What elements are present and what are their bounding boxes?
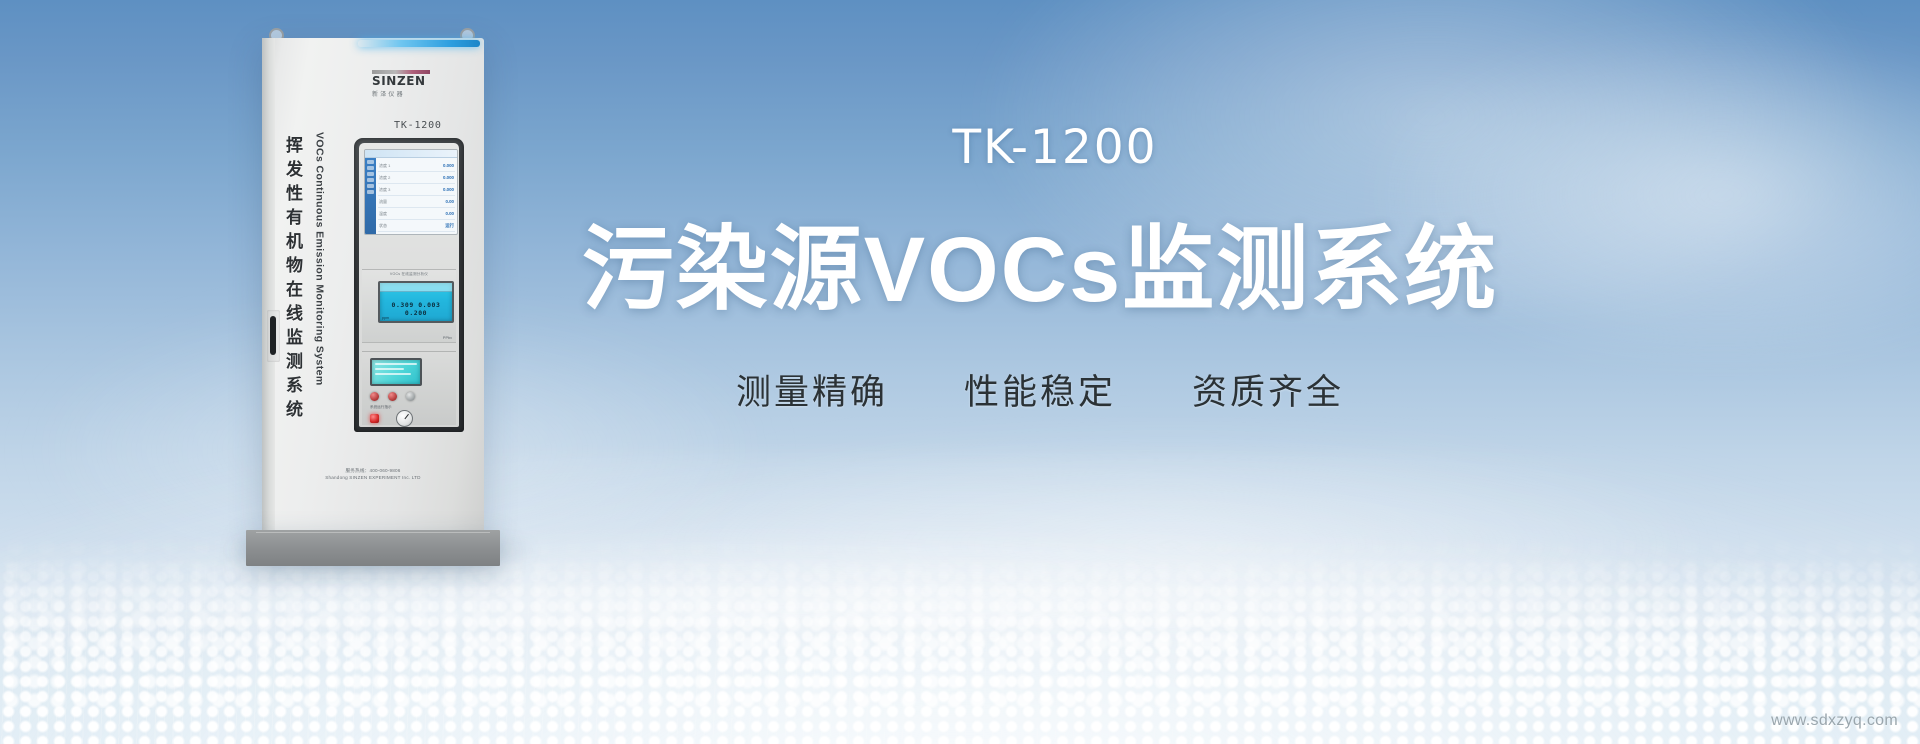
hmi-row-label: 温度 [379,211,387,217]
cabinet-left-edge [262,38,275,530]
analyzer-caption: VOCs 在线监测分析仪 [362,270,456,277]
valve-knob-icon [406,392,415,401]
hmi-row-value: 运行 [445,223,454,229]
hmi-row-value: 0.00 [445,199,454,204]
status-led-icon [370,414,379,423]
control-panel: 系统运行指示 [362,351,456,425]
hmi-row: 浓度 2 0.000 [378,172,455,184]
feature-item-accuracy: 测量精确 [736,364,888,415]
hmi-row: 温度 0.00 [378,208,455,220]
lcd-unit: ppm [382,316,389,320]
hmi-row-value: 0.000 [443,187,454,192]
control-indicator-label: 系统运行指示 [370,405,392,410]
nameplate-line-2: Shandong SINZEN EXPERIMENT Inc. LTD [262,475,484,482]
cabinet-nameplate: 服务热线：400-060-9806 Shandong SINZEN EXPERI… [262,468,484,482]
analyzer-module: VOCs 在线监测分析仪 0.309 0.003 0.200 ppm PPbv [362,269,456,343]
banner-model-label: TK-1200 [570,120,1540,175]
hmi-row-label: 流量 [379,199,387,205]
feature-item-stability: 性能稳定 [964,364,1116,415]
pressure-gauge-icon [396,410,413,427]
control-knob-group [370,392,415,401]
product-banner: SINZEN 新泽仪器 TK-1200 挥发性有机物在线监测系统 VOCs Co… [0,0,1920,744]
cabinet-plinth [246,530,500,566]
cabinet-vertical-cn-title: 挥发性有机物在线监测系统 [284,136,301,424]
hmi-row-label: 浓度 3 [379,187,390,193]
pump-knob-icon [388,392,397,401]
instrument-window: 浓度 1 0.000 浓度 2 0.000 浓度 3 0.000 流量 [354,138,464,432]
hmi-titlebar [365,150,457,158]
banner-feature-list: 测量精确 性能稳定 资质齐全 [540,364,1540,415]
hmi-row-label: 浓度 2 [379,175,390,181]
hmi-row: 流量 0.00 [378,196,455,208]
door-handle-icon [267,310,280,362]
feature-item-credentials: 资质齐全 [1192,364,1344,415]
brand-cn-text: 新泽仪器 [372,89,444,98]
hmi-row-value: 0.000 [443,163,454,168]
control-mini-display [370,358,422,386]
banner-copy-block: TK-1200 污染源VOCs监测系统 测量精确 性能稳定 资质齐全 [540,120,1540,415]
nameplate-line-1: 服务热线：400-060-9806 [262,468,484,475]
banner-headline: 污染源VOCs监测系统 [540,195,1540,328]
dot-layer-near [0,554,1920,744]
hmi-row-value: 0.00 [445,211,454,216]
hmi-row-value: 0.000 [443,175,454,180]
hmi-row-label: 浓度 1 [379,163,390,169]
status-led-strip [358,40,480,47]
cabinet-vertical-en-title: VOCs Continuous Emission Monitoring Syst… [314,132,325,386]
power-knob-icon [370,392,379,401]
lcd-header-bar [380,283,452,292]
site-watermark: www.sdxzyq.com [1771,712,1898,730]
hmi-readout-grid: 浓度 1 0.000 浓度 2 0.000 浓度 3 0.000 流量 [378,160,455,232]
hmi-row-label: 状态 [379,223,387,229]
hmi-row: 状态 运行 [378,220,455,232]
hmi-touchscreen: 浓度 1 0.000 浓度 2 0.000 浓度 3 0.000 流量 [364,149,458,235]
cabinet-brand-logo: SINZEN 新泽仪器 [372,70,444,98]
product-cabinet-image: SINZEN 新泽仪器 TK-1200 挥发性有机物在线监测系统 VOCs Co… [262,28,484,548]
analyzer-unit-label: PPbv [443,336,452,340]
analyzer-lcd-display: 0.309 0.003 0.200 ppm [378,281,454,323]
hmi-row: 浓度 3 0.000 [378,184,455,196]
brand-name-text: SINZEN [372,75,444,88]
hmi-row: 浓度 1 0.000 [378,160,455,172]
instrument-rack: 浓度 1 0.000 浓度 2 0.000 浓度 3 0.000 流量 [359,143,459,427]
cabinet-model-code: TK-1200 [394,120,442,131]
lcd-value: 0.309 0.003 0.200 [380,292,452,317]
hmi-sidebar-icons [365,158,376,234]
